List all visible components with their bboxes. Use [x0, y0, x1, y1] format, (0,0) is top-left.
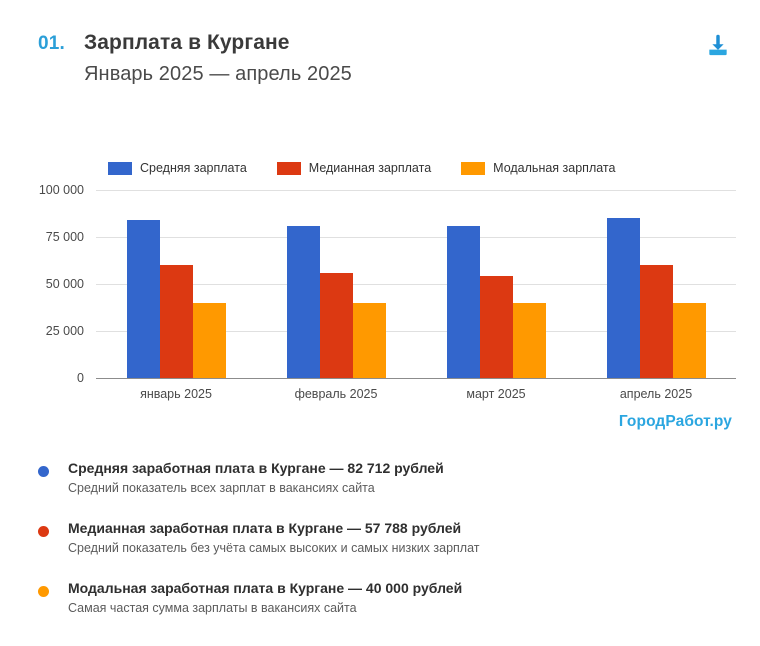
- x-axis-tick-label: февраль 2025: [256, 387, 416, 401]
- bar-group: март 2025: [416, 190, 576, 378]
- chart-plot-area: 100 00075 00050 00025 0000 январь 2025фе…: [96, 190, 736, 378]
- list-item: Медианная заработная плата в Кургане — 5…: [0, 520, 760, 556]
- legend-swatch-median: [277, 162, 301, 175]
- section-number: 01.: [38, 33, 65, 55]
- bar-average[interactable]: [607, 218, 640, 378]
- page-title: Зарплата в Кургане: [84, 31, 290, 55]
- bar-average[interactable]: [127, 220, 160, 378]
- x-axis-tick-label: январь 2025: [96, 387, 256, 401]
- bar-modal[interactable]: [513, 303, 546, 378]
- bar-group: апрель 2025: [576, 190, 736, 378]
- bar-modal[interactable]: [193, 303, 226, 378]
- x-axis-line: 0: [96, 378, 736, 379]
- chart-legend: Средняя зарплата Медианная зарплата Мода…: [108, 161, 615, 175]
- fact-title: Модальная заработная плата в Кургане — 4…: [68, 580, 760, 598]
- legend-item-average[interactable]: Средняя зарплата: [108, 161, 247, 175]
- salary-chart: Средняя зарплата Медианная зарплата Мода…: [0, 110, 760, 440]
- fact-title: Средняя заработная плата в Кургане — 82 …: [68, 460, 760, 478]
- fact-description: Средний показатель всех зарплат в ваканс…: [68, 481, 760, 497]
- legend-label-average: Средняя зарплата: [140, 161, 247, 175]
- bullet-dot-modal: [38, 586, 49, 597]
- list-item: Средняя заработная плата в Кургане — 82 …: [0, 460, 760, 496]
- legend-label-median: Медианная зарплата: [309, 161, 431, 175]
- bar-median[interactable]: [160, 265, 193, 378]
- legend-item-modal[interactable]: Модальная зарплата: [461, 161, 615, 175]
- x-axis-tick-label: апрель 2025: [576, 387, 736, 401]
- bar-median[interactable]: [640, 265, 673, 378]
- list-item: Модальная заработная плата в Кургане — 4…: [0, 580, 760, 616]
- page-header: 01. Зарплата в Кургане Январь 2025 — апр…: [0, 0, 760, 110]
- bar-group: февраль 2025: [256, 190, 416, 378]
- fact-title: Медианная заработная плата в Кургане — 5…: [68, 520, 760, 538]
- download-icon[interactable]: [704, 32, 732, 60]
- bullet-dot-average: [38, 466, 49, 477]
- bar-average[interactable]: [447, 226, 480, 378]
- bar-average[interactable]: [287, 226, 320, 378]
- legend-label-modal: Модальная зарплата: [493, 161, 615, 175]
- fact-description: Средний показатель без учёта самых высок…: [68, 541, 760, 557]
- legend-swatch-average: [108, 162, 132, 175]
- y-axis-tick-label: 100 000: [39, 183, 84, 197]
- y-axis-tick-label: 0: [77, 371, 84, 385]
- fact-description: Самая частая сумма зарплаты в вакансиях …: [68, 601, 760, 617]
- y-axis-tick-label: 75 000: [46, 230, 84, 244]
- bar-modal[interactable]: [353, 303, 386, 378]
- y-axis-tick-label: 50 000: [46, 277, 84, 291]
- bar-group: январь 2025: [96, 190, 256, 378]
- page-subtitle: Январь 2025 — апрель 2025: [84, 63, 352, 86]
- bar-groups: январь 2025февраль 2025март 2025апрель 2…: [96, 190, 736, 378]
- site-watermark: ГородРабот.ру: [619, 413, 732, 431]
- salary-facts: Средняя заработная плата в Кургане — 82 …: [0, 460, 760, 640]
- y-axis-tick-label: 25 000: [46, 324, 84, 338]
- legend-swatch-modal: [461, 162, 485, 175]
- bar-median[interactable]: [320, 273, 353, 378]
- bar-median[interactable]: [480, 276, 513, 378]
- bar-modal[interactable]: [673, 303, 706, 378]
- bullet-dot-median: [38, 526, 49, 537]
- legend-item-median[interactable]: Медианная зарплата: [277, 161, 431, 175]
- x-axis-tick-label: март 2025: [416, 387, 576, 401]
